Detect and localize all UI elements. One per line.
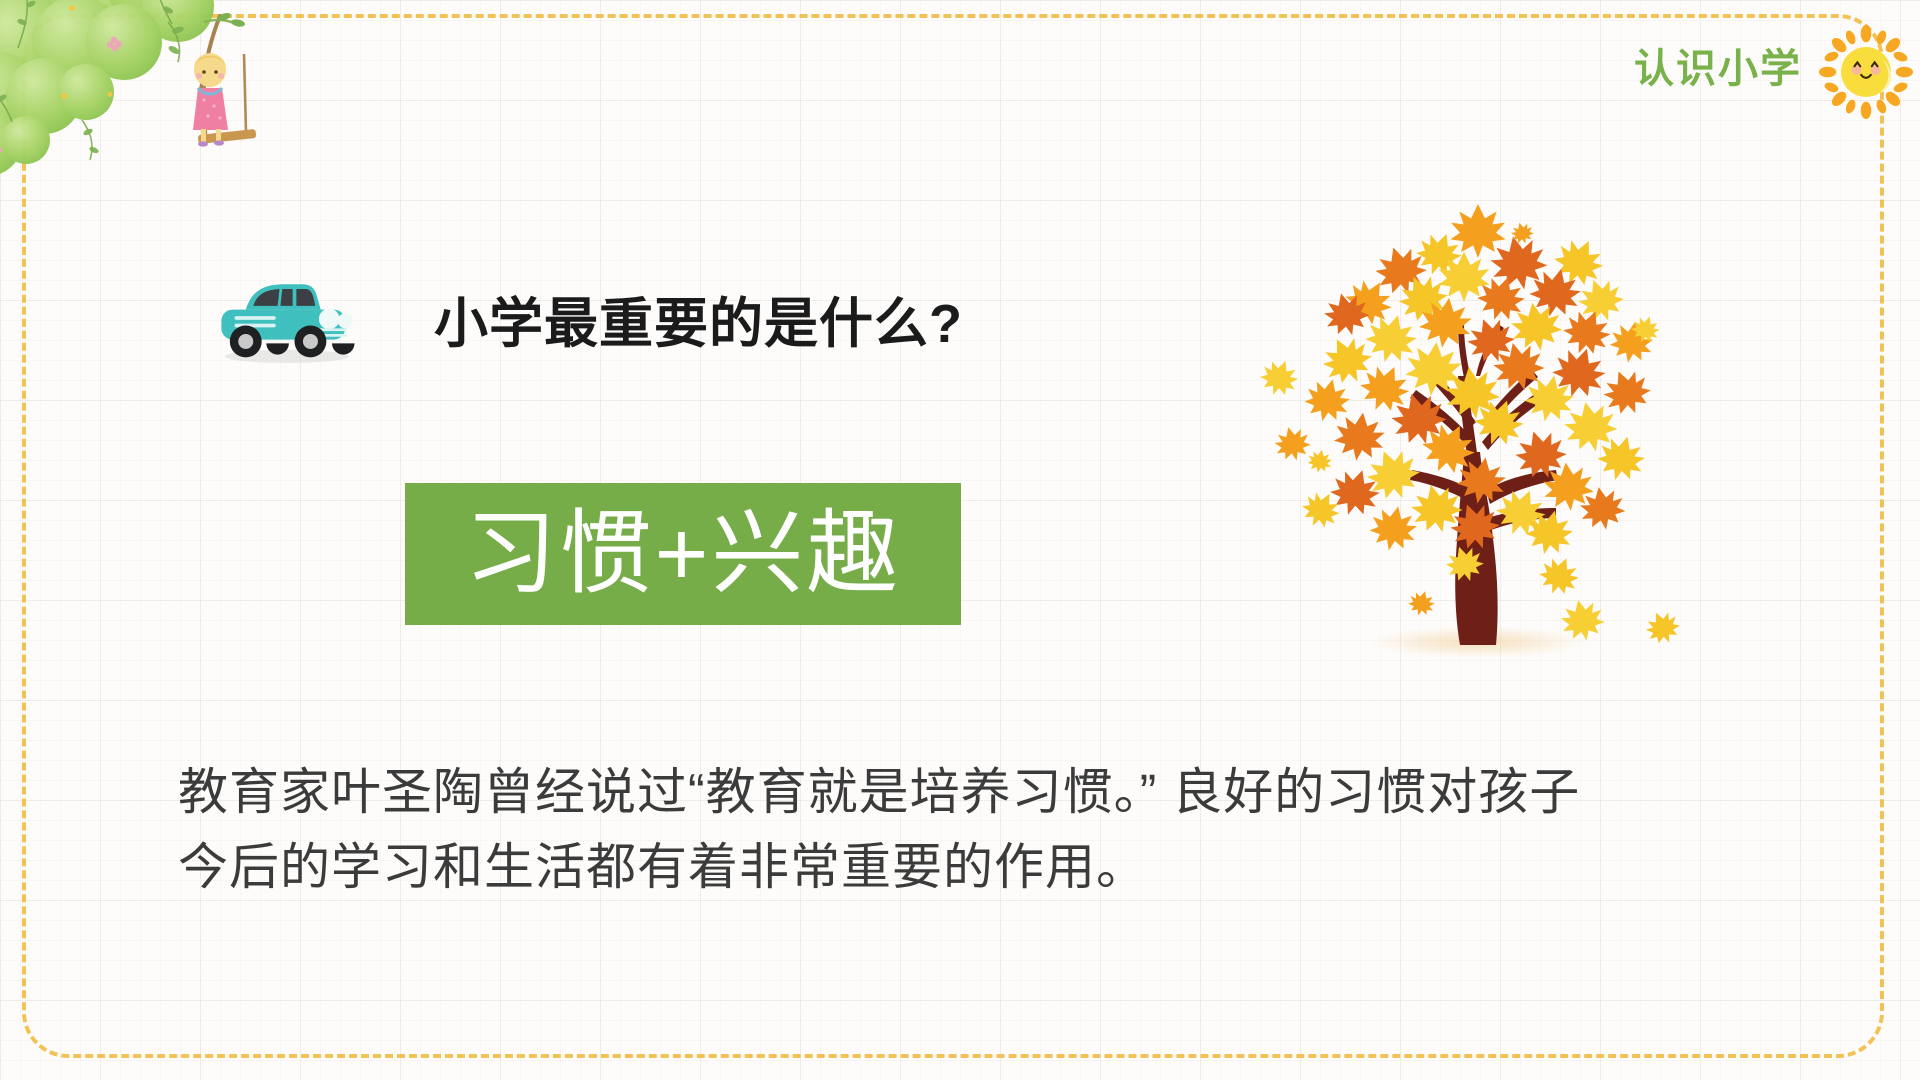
body-paragraph: 教育家叶圣陶曾经说过“教育就是培养习惯。” 良好的习惯对孩子 今后的学习和生活都… xyxy=(178,755,1818,905)
headline-row: 小学最重要的是什么? xyxy=(212,272,963,364)
brand-title: 认识小学 xyxy=(1634,36,1802,94)
sun-icon xyxy=(1818,24,1914,120)
car-icon xyxy=(212,272,362,364)
page-title: 小学最重要的是什么? xyxy=(434,279,963,358)
autumn-maple-tree-illustration xyxy=(1250,190,1700,660)
keyword-highlight-box: 习惯+兴趣 xyxy=(405,483,961,625)
keyword-highlight-text: 习惯+兴趣 xyxy=(465,508,902,600)
girl-on-swing-under-tree-illustration xyxy=(0,0,312,200)
paragraph-line: 教育家叶圣陶曾经说过“教育就是培养习惯。” 良好的习惯对孩子 xyxy=(178,755,1818,830)
paragraph-line: 今后的学习和生活都有着非常重要的作用。 xyxy=(178,830,1818,905)
brand-header: 认识小学 xyxy=(1634,36,1802,94)
slide-canvas: 认识小学 xyxy=(0,0,1920,1080)
